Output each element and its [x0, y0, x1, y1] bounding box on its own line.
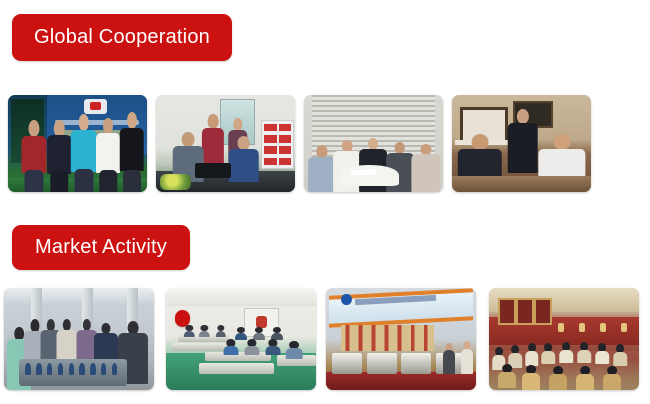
photo-thumbnail[interactable] — [4, 288, 154, 390]
photo-scene-training-room — [166, 288, 316, 390]
photo-thumbnail[interactable] — [8, 95, 147, 192]
photo-scene-banquet-conference — [489, 288, 639, 390]
photo-thumbnail[interactable] — [326, 288, 476, 390]
photo-thumbnail[interactable] — [166, 288, 316, 390]
photo-scene-group-banner — [8, 95, 147, 192]
section-title-global-cooperation: Global Cooperation — [34, 27, 210, 49]
photo-scene-boardroom-table — [304, 95, 443, 192]
photo-scene-expo-booth — [326, 288, 476, 390]
section-title-market-activity: Market Activity — [35, 237, 167, 259]
photo-row-market-activity — [0, 288, 650, 391]
photo-thumbnail[interactable] — [452, 95, 591, 192]
photo-row-global-cooperation — [0, 95, 650, 193]
photo-thumbnail[interactable] — [156, 95, 295, 192]
section-banner-global-cooperation: Global Cooperation — [12, 14, 232, 61]
page-root: Global Cooperation — [0, 0, 650, 404]
photo-scene-factory-visit — [4, 288, 154, 390]
photo-thumbnail[interactable] — [304, 95, 443, 192]
photo-scene-office-desk — [156, 95, 295, 192]
photo-scene-office-three-people — [452, 95, 591, 192]
section-banner-market-activity: Market Activity — [12, 225, 190, 270]
photo-thumbnail[interactable] — [489, 288, 639, 390]
